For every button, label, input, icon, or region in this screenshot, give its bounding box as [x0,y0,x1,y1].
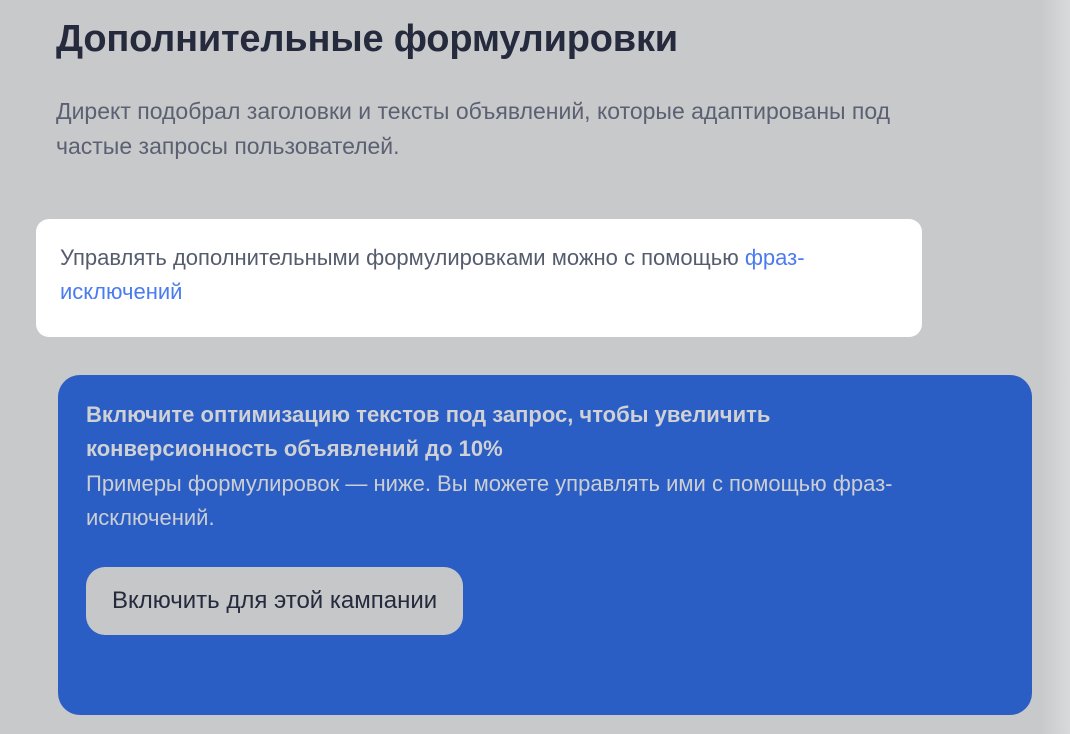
enable-for-campaign-button[interactable]: Включить для этой кампании [86,567,463,635]
page-subtitle: Директ подобрал заголовки и тексты объяв… [56,94,966,164]
promo-body: Примеры формулировок — ниже. Вы можете у… [86,467,1004,536]
info-card: Управлять дополнительными формулировками… [36,219,922,337]
info-card-text-lead: Управлять дополнительными формулировками… [60,245,745,270]
info-card-text: Управлять дополнительными формулировками… [60,241,898,309]
promo-heading: Включите оптимизацию текстов под запрос,… [86,398,916,467]
page-root: Дополнительные формулировки Директ подоб… [0,0,1070,734]
promo-card: Включите оптимизацию текстов под запрос,… [58,375,1032,715]
page-title: Дополнительные формулировки [56,16,678,62]
right-edge-band [1040,0,1070,734]
